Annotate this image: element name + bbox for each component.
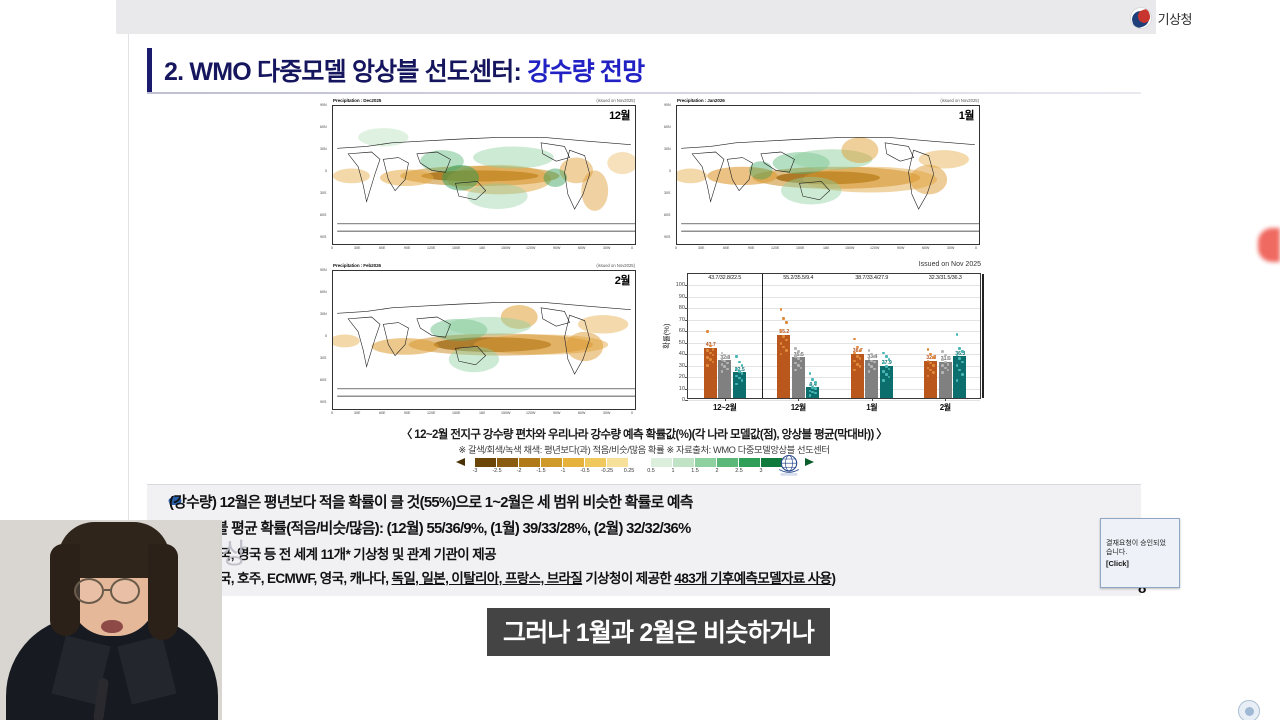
kma-brand-label: 기상청 xyxy=(1158,9,1192,28)
chart-y-tickmark xyxy=(685,400,688,401)
map-xtick: 0 xyxy=(675,246,677,250)
slide-title-prefix: 2. WMO 다중모델 앙상블 선도센터: xyxy=(164,58,527,86)
chart-model-member-dot xyxy=(859,349,862,352)
probability-bar-chart: Issued on Nov 2025 확률(%) 010203040506070… xyxy=(663,261,983,421)
slide-title-accent: 강수량 전망 xyxy=(527,58,644,86)
colorbar-tick: 2.5 xyxy=(735,468,743,474)
chart-model-member-dot xyxy=(809,372,812,375)
chart-x-axis-label: 2월 xyxy=(909,402,983,413)
colorbar-tick: -1.5 xyxy=(536,468,545,474)
map-issued-dec: (issued on Nov2025) xyxy=(596,98,635,103)
chart-model-member-dot xyxy=(927,348,930,351)
map-xtick: 120E xyxy=(771,246,779,250)
map-panel-jan: Precipitation : Jan2026 (issued on Nov20… xyxy=(663,96,983,256)
chart-model-member-dot xyxy=(794,347,797,350)
slide-title-row: 2. WMO 다중모델 앙상블 선도센터: 강수량 전망 xyxy=(147,48,1141,92)
map-ytick: 90S xyxy=(664,235,670,239)
colorbar-segment xyxy=(541,458,563,467)
chart-model-member-dot xyxy=(853,360,856,363)
map-title-jan: Precipitation : Jan2026 xyxy=(677,98,725,103)
map-xtick: 30W xyxy=(603,411,610,415)
chart-model-member-dot xyxy=(706,330,709,333)
chart-model-member-dot xyxy=(932,364,935,367)
map-xtick: 150W xyxy=(501,411,510,415)
colorbar-segment xyxy=(717,458,739,467)
map-ytick: 60S xyxy=(320,378,326,382)
map-xtick: 30E xyxy=(698,246,704,250)
chart-model-member-dot xyxy=(873,355,876,358)
approval-notification-toast[interactable]: 결재요청이 승인되었 습니다. [Click] xyxy=(1100,518,1180,588)
map-xtick: 60E xyxy=(723,246,729,250)
figure-caption-main: 〈 12~2월 전지구 강수량 편차와 우리나라 강수량 예측 확률값(%)(각… xyxy=(147,426,1141,442)
map-xtick: 60W xyxy=(578,411,585,415)
map-xtick: 180 xyxy=(479,411,485,415)
map-xtick: 90W xyxy=(553,246,560,250)
header-grey-strip xyxy=(116,0,1156,34)
title-divider xyxy=(147,92,1141,94)
presenter-video xyxy=(0,520,222,720)
map-xtick: 60W xyxy=(922,246,929,250)
precipitation-colorbar: -3-2.5-2-1.5-1-0.5-0.250.250.511.522.53 xyxy=(465,458,805,484)
chart-x-tickmark xyxy=(798,398,799,401)
presenter-glasses-bridge xyxy=(104,589,111,591)
map-month-dec: 12월 xyxy=(609,107,630,123)
map-ytick: 90S xyxy=(320,400,326,404)
chart-model-member-dot xyxy=(735,355,738,358)
chart-model-member-dot xyxy=(882,370,885,373)
map-xtick: 150W xyxy=(501,246,510,250)
colorbar-tick: 0.5 xyxy=(647,468,655,474)
map-ytick: 60N xyxy=(320,125,327,129)
map-ytick: 30S xyxy=(320,191,326,195)
chart-model-member-dot xyxy=(941,350,944,353)
bullet-line-1: (강수량) 12월은 평년보다 적을 확률이 클 것(55%)으로 1~2월은 … xyxy=(169,491,693,512)
chart-group: 38.7/33.4/27.938.733.427.91월 xyxy=(835,274,909,398)
kma-brand: 기상청 xyxy=(1130,7,1192,29)
map-ytick: 90N xyxy=(320,103,327,107)
chart-model-member-dot xyxy=(782,317,785,320)
map-ytick: 30S xyxy=(320,356,326,360)
map-xtick: 90E xyxy=(404,411,410,415)
chart-model-member-dot xyxy=(853,338,856,341)
map-issued-jan: (issued on Nov2025) xyxy=(940,98,979,103)
colorbar-tick: 0.25 xyxy=(624,468,635,474)
chart-x-tickmark xyxy=(945,398,946,401)
colorbar-tick: -3 xyxy=(473,468,478,474)
chart-model-member-dot xyxy=(726,356,729,359)
map-ytick: 60N xyxy=(664,125,671,129)
chart-group-probability-label: 55.2/35.5/9.4 xyxy=(762,275,836,281)
map-frame-jan xyxy=(676,105,980,245)
map-ytick: 0 xyxy=(669,169,671,173)
summary-bullet-block: (강수량) 12월은 평년보다 적을 확률이 클 것(55%)으로 1~2월은 … xyxy=(147,484,1141,596)
approval-message-line-1: 결재요청이 승인되었 xyxy=(1106,539,1174,548)
chart-x-tickmark xyxy=(725,398,726,401)
chart-group: 32.3/31.5/36.332.331.536.32월 xyxy=(909,274,983,398)
colorbar-segment xyxy=(585,458,607,467)
map-xtick: 90W xyxy=(897,246,904,250)
chart-y-tick: 100 xyxy=(676,282,685,288)
chart-model-member-dot xyxy=(932,371,935,374)
chart-model-member-dot xyxy=(859,365,862,368)
map-ytick: 30N xyxy=(320,147,327,151)
map-panel-dec: Precipitation : Dec2025 (issued on Nov20… xyxy=(319,96,639,256)
chart-model-member-dot xyxy=(961,373,964,376)
bullet-line-4-post: ) xyxy=(831,571,835,586)
chart-model-member-dot xyxy=(735,383,738,386)
colorbar-tick: -2.5 xyxy=(492,468,501,474)
chart-y-axis-label: 확률(%) xyxy=(661,324,672,349)
colorbar-tick: -0.25 xyxy=(601,468,613,474)
colorbar-tick: -1 xyxy=(561,468,566,474)
chart-model-member-dot xyxy=(811,378,814,381)
map-xtick: 150E xyxy=(796,246,804,250)
map-title-dec: Precipitation : Dec2025 xyxy=(333,98,381,103)
map-xtick: 120E xyxy=(427,411,435,415)
map-xtick: 30W xyxy=(603,246,610,250)
colorbar-segment xyxy=(739,458,761,467)
map-ytick: 0 xyxy=(325,334,327,338)
subtitle-text: 그러나 1월과 2월은 비슷하거나 xyxy=(503,613,814,649)
chart-model-member-dot xyxy=(859,357,862,360)
presenter-glasses-right xyxy=(110,578,140,604)
approval-click-label[interactable]: [Click] xyxy=(1106,559,1174,568)
chart-model-member-dot xyxy=(782,335,785,338)
figure-panels: Precipitation : Dec2025 (issued on Nov20… xyxy=(319,96,979,426)
chart-model-member-dot xyxy=(785,321,788,324)
map-xtick: 0 xyxy=(331,246,333,250)
colorbar-segment xyxy=(475,458,497,467)
colorbar-segment xyxy=(651,458,673,467)
map-ytick: 30N xyxy=(664,147,671,151)
wmo-emblem-icon xyxy=(775,454,803,478)
chart-x-axis-label: 12월 xyxy=(762,402,836,413)
bullet-line-4-mid: 기상청이 제공한 xyxy=(582,571,674,586)
chart-model-member-dot xyxy=(712,348,715,351)
chart-group-probability-label: 32.3/31.5/36.3 xyxy=(909,275,983,281)
chart-model-member-dot xyxy=(709,345,712,348)
subtitle-bar: 그러나 1월과 2월은 비슷하거나 xyxy=(487,608,830,656)
bullet-line-4-underline-1: 독일, 일본, 이탈리아, 프랑스, 브라질 xyxy=(392,571,583,586)
map-xtick: 0 xyxy=(331,411,333,415)
world-coastline-icon xyxy=(333,106,635,244)
approval-message-line-2: 습니다. xyxy=(1106,548,1174,557)
chart-group-probability-label: 43.7/32.8/22.5 xyxy=(688,275,762,281)
map-xtick: 30E xyxy=(354,411,360,415)
map-ytick: 30S xyxy=(664,191,670,195)
figure-caption-note: ※ 갈색/회색/녹색 채색: 평년보다(과) 적음/비슷/많음 확률 ※ 자료출… xyxy=(147,442,1141,456)
chart-model-member-dot xyxy=(814,387,817,390)
colorbar-segment xyxy=(607,458,629,467)
chart-model-member-dot xyxy=(947,363,950,366)
chart-model-member-dot xyxy=(961,350,964,353)
map-xtick: 90W xyxy=(553,411,560,415)
chart-issued-annotation: Issued on Nov 2025 xyxy=(919,261,981,268)
chart-model-member-dot xyxy=(853,352,856,355)
map-xtick: 120E xyxy=(427,246,435,250)
chart-model-member-dot xyxy=(873,368,876,371)
colorbar-tick: 3 xyxy=(760,468,763,474)
chart-model-member-dot xyxy=(961,361,964,364)
chart-model-member-dot xyxy=(868,349,871,352)
map-xtick: 60E xyxy=(379,246,385,250)
screen-edge-blob xyxy=(1258,228,1280,262)
colorbar-segment xyxy=(497,458,519,467)
chart-model-member-dot xyxy=(814,381,817,384)
presenter-glasses-left xyxy=(74,578,104,604)
chart-model-member-dot xyxy=(785,349,788,352)
bullet-line-3: 국, 미국, 영국 등 전 세계 11개* 기상청 및 관계 기관이 제공 xyxy=(189,543,496,563)
chart-group: 55.2/35.5/9.455.235.59.412월 xyxy=(762,274,836,398)
chart-group: 43.7/32.8/22.543.732.822.512~2월 xyxy=(688,274,762,398)
presenter-hair-right xyxy=(148,544,178,640)
bullet-line-4: 국, 미국, 호주, ECMWF, 영국, 캐나다, 독일, 일본, 이탈리아,… xyxy=(189,567,835,587)
chart-model-member-dot xyxy=(882,379,885,382)
map-frame-feb xyxy=(332,270,636,410)
colorbar-tick: -0.5 xyxy=(580,468,589,474)
chart-model-member-dot xyxy=(741,364,744,367)
colorbar-tick: 1.5 xyxy=(691,468,699,474)
colorbar-segments xyxy=(475,458,783,467)
chart-model-member-dot xyxy=(888,358,891,361)
colorbar-left-tip xyxy=(456,458,465,466)
chart-model-member-dot xyxy=(932,356,935,359)
colorbar-segment xyxy=(673,458,695,467)
chart-model-member-dot xyxy=(797,364,800,367)
map-xtick: 60W xyxy=(578,246,585,250)
page-title: 2. WMO 다중모델 앙상블 선도센터: 강수량 전망 xyxy=(164,52,644,88)
map-month-feb: 2월 xyxy=(615,272,630,288)
map-ytick: 90S xyxy=(320,235,326,239)
map-xtick: 30E xyxy=(354,246,360,250)
chart-model-member-dot xyxy=(706,364,709,367)
bullet-line-4-underline-2: 483개 기후예측모델자료 사용 xyxy=(674,571,831,586)
map-xtick: 0 xyxy=(631,246,633,250)
chart-model-member-dot xyxy=(741,379,744,382)
map-xtick: 180 xyxy=(823,246,829,250)
map-xtick: 90E xyxy=(404,246,410,250)
map-xtick: 150E xyxy=(452,411,460,415)
map-xtick: 180 xyxy=(479,246,485,250)
chart-model-member-dot xyxy=(941,371,944,374)
map-ytick: 60S xyxy=(664,213,670,217)
bullet-line-2: 앙상블 평균 확률(적음/비슷/많음): (12월) 55/36/9%, (1월… xyxy=(189,517,691,538)
presenter-mouth xyxy=(101,620,123,633)
colorbar-tick: 2 xyxy=(716,468,719,474)
approval-message: 결재요청이 승인되었 습니다. xyxy=(1106,539,1174,558)
map-title-feb: Precipitation : Feb2026 xyxy=(333,263,381,268)
chart-model-member-dot xyxy=(726,368,729,371)
map-issued-feb: (issued on Nov2025) xyxy=(596,263,635,268)
colorbar-segment xyxy=(629,458,651,467)
chart-model-member-dot xyxy=(947,356,950,359)
map-xtick: 90E xyxy=(748,246,754,250)
colorbar-tick: 1 xyxy=(672,468,675,474)
map-xtick: 0 xyxy=(631,411,633,415)
map-xtick: 0 xyxy=(975,246,977,250)
world-coastline-icon xyxy=(677,106,979,244)
chart-x-axis-label: 12~2월 xyxy=(688,402,762,413)
colorbar-segment xyxy=(695,458,717,467)
chart-plot-area: 010203040506070809010043.7/32.8/22.543.7… xyxy=(687,273,981,399)
colorbar-segment xyxy=(519,458,541,467)
chart-bar: 36.3 xyxy=(953,356,966,398)
map-ytick: 90N xyxy=(664,103,671,107)
map-ytick: 90N xyxy=(320,268,327,272)
chart-group-separator xyxy=(982,274,984,398)
map-panel-feb: Precipitation : Feb2026 (issued on Nov20… xyxy=(319,261,639,421)
map-ytick: 60S xyxy=(320,213,326,217)
chart-x-tickmark xyxy=(872,398,873,401)
taeguk-logo-icon xyxy=(1130,7,1152,29)
slide-canvas: 2. WMO 다중모델 앙상블 선도센터: 강수량 전망 Precipitati… xyxy=(128,34,1158,606)
chart-group-probability-label: 38.7/33.4/27.9 xyxy=(835,275,909,281)
colorbar-segment xyxy=(563,458,585,467)
chart-model-member-dot xyxy=(956,333,959,336)
chart-model-member-dot xyxy=(885,355,888,358)
map-xtick: 30W xyxy=(947,246,954,250)
chart-model-member-dot xyxy=(882,352,885,355)
map-xtick: 150W xyxy=(845,246,854,250)
chart-model-member-dot xyxy=(958,357,961,360)
chart-model-member-dot xyxy=(741,372,744,375)
colorbar-right-tip xyxy=(805,458,814,466)
map-xtick: 150E xyxy=(452,246,460,250)
chart-model-member-dot xyxy=(873,361,876,364)
map-frame-dec xyxy=(332,105,636,245)
chart-x-axis-label: 1월 xyxy=(835,402,909,413)
map-xtick: 120W xyxy=(526,411,535,415)
chart-model-member-dot xyxy=(738,361,741,364)
map-xtick: 60E xyxy=(379,411,385,415)
chart-gridline xyxy=(688,400,980,401)
colorbar-tick: -2 xyxy=(517,468,522,474)
chart-model-member-dot xyxy=(958,347,961,350)
map-xtick: 120W xyxy=(870,246,879,250)
map-month-jan: 1월 xyxy=(959,107,974,123)
chart-group-separator xyxy=(762,274,764,398)
map-xtick: 120W xyxy=(526,246,535,250)
map-ytick: 60N xyxy=(320,290,327,294)
map-ytick: 0 xyxy=(325,169,327,173)
chart-model-member-dot xyxy=(780,308,783,311)
world-coastline-icon xyxy=(333,271,635,409)
assistant-bubble-icon[interactable] xyxy=(1238,700,1260,720)
map-ytick: 30N xyxy=(320,312,327,316)
